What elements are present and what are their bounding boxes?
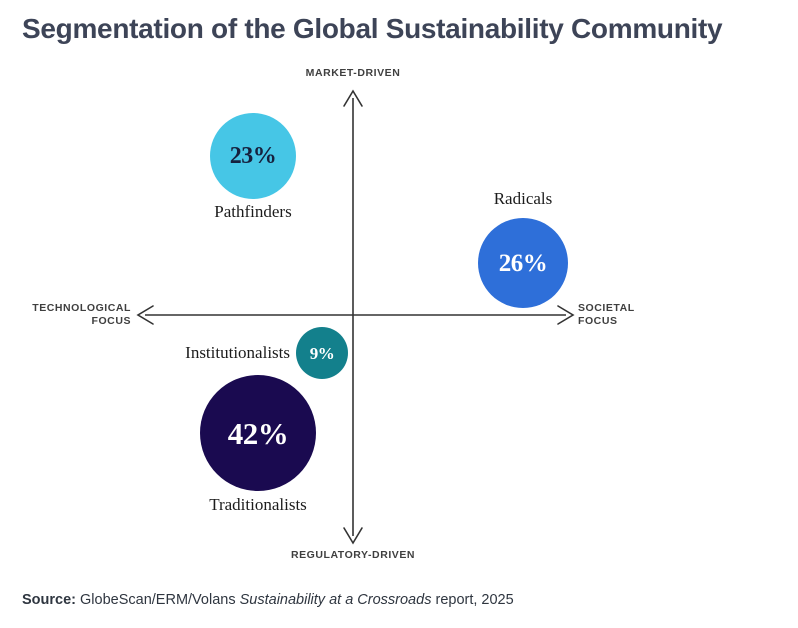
bubble-value-pathfinders: 23%: [230, 144, 277, 168]
bubble-value-traditionalists: 42%: [228, 418, 289, 449]
source-report-title: Sustainability at a Crossroads: [240, 592, 432, 608]
bubble-pathfinders[interactable]: 23%: [210, 113, 296, 199]
bubble-label-radicals: Radicals: [473, 189, 573, 209]
bubble-label-traditionalists: Traditionalists: [198, 495, 318, 515]
bubble-traditionalists[interactable]: 42%: [200, 375, 316, 491]
source-note: Source: GlobeScan/ERM/Volans Sustainabil…: [22, 592, 514, 608]
quadrant-plot-area: MARKET-DRIVEN REGULATORY-DRIVEN TECHNOLO…: [0, 58, 798, 568]
source-suffix: report, 2025: [435, 592, 513, 608]
page-title: Segmentation of the Global Sustainabilit…: [22, 10, 782, 48]
bubble-institutionalists[interactable]: 9%: [296, 327, 348, 379]
bubble-value-institutionalists: 9%: [310, 345, 335, 362]
axis-label-technological-focus: TECHNOLOGICAL FOCUS: [0, 302, 131, 328]
axis-label-regulatory-driven: REGULATORY-DRIVEN: [253, 549, 453, 562]
axis-label-market-driven: MARKET-DRIVEN: [253, 67, 453, 80]
bubble-value-radicals: 26%: [499, 251, 548, 276]
bubble-label-institutionalists: Institutionalists: [135, 343, 290, 363]
axis-label-societal-focus: SOCIETAL FOCUS: [578, 302, 758, 328]
bubble-radicals[interactable]: 26%: [478, 218, 568, 308]
chart-canvas: Segmentation of the Global Sustainabilit…: [0, 0, 798, 628]
source-publisher: GlobeScan/ERM/Volans: [80, 592, 236, 608]
source-prefix: Source:: [22, 592, 76, 608]
bubble-label-pathfinders: Pathfinders: [203, 202, 303, 222]
